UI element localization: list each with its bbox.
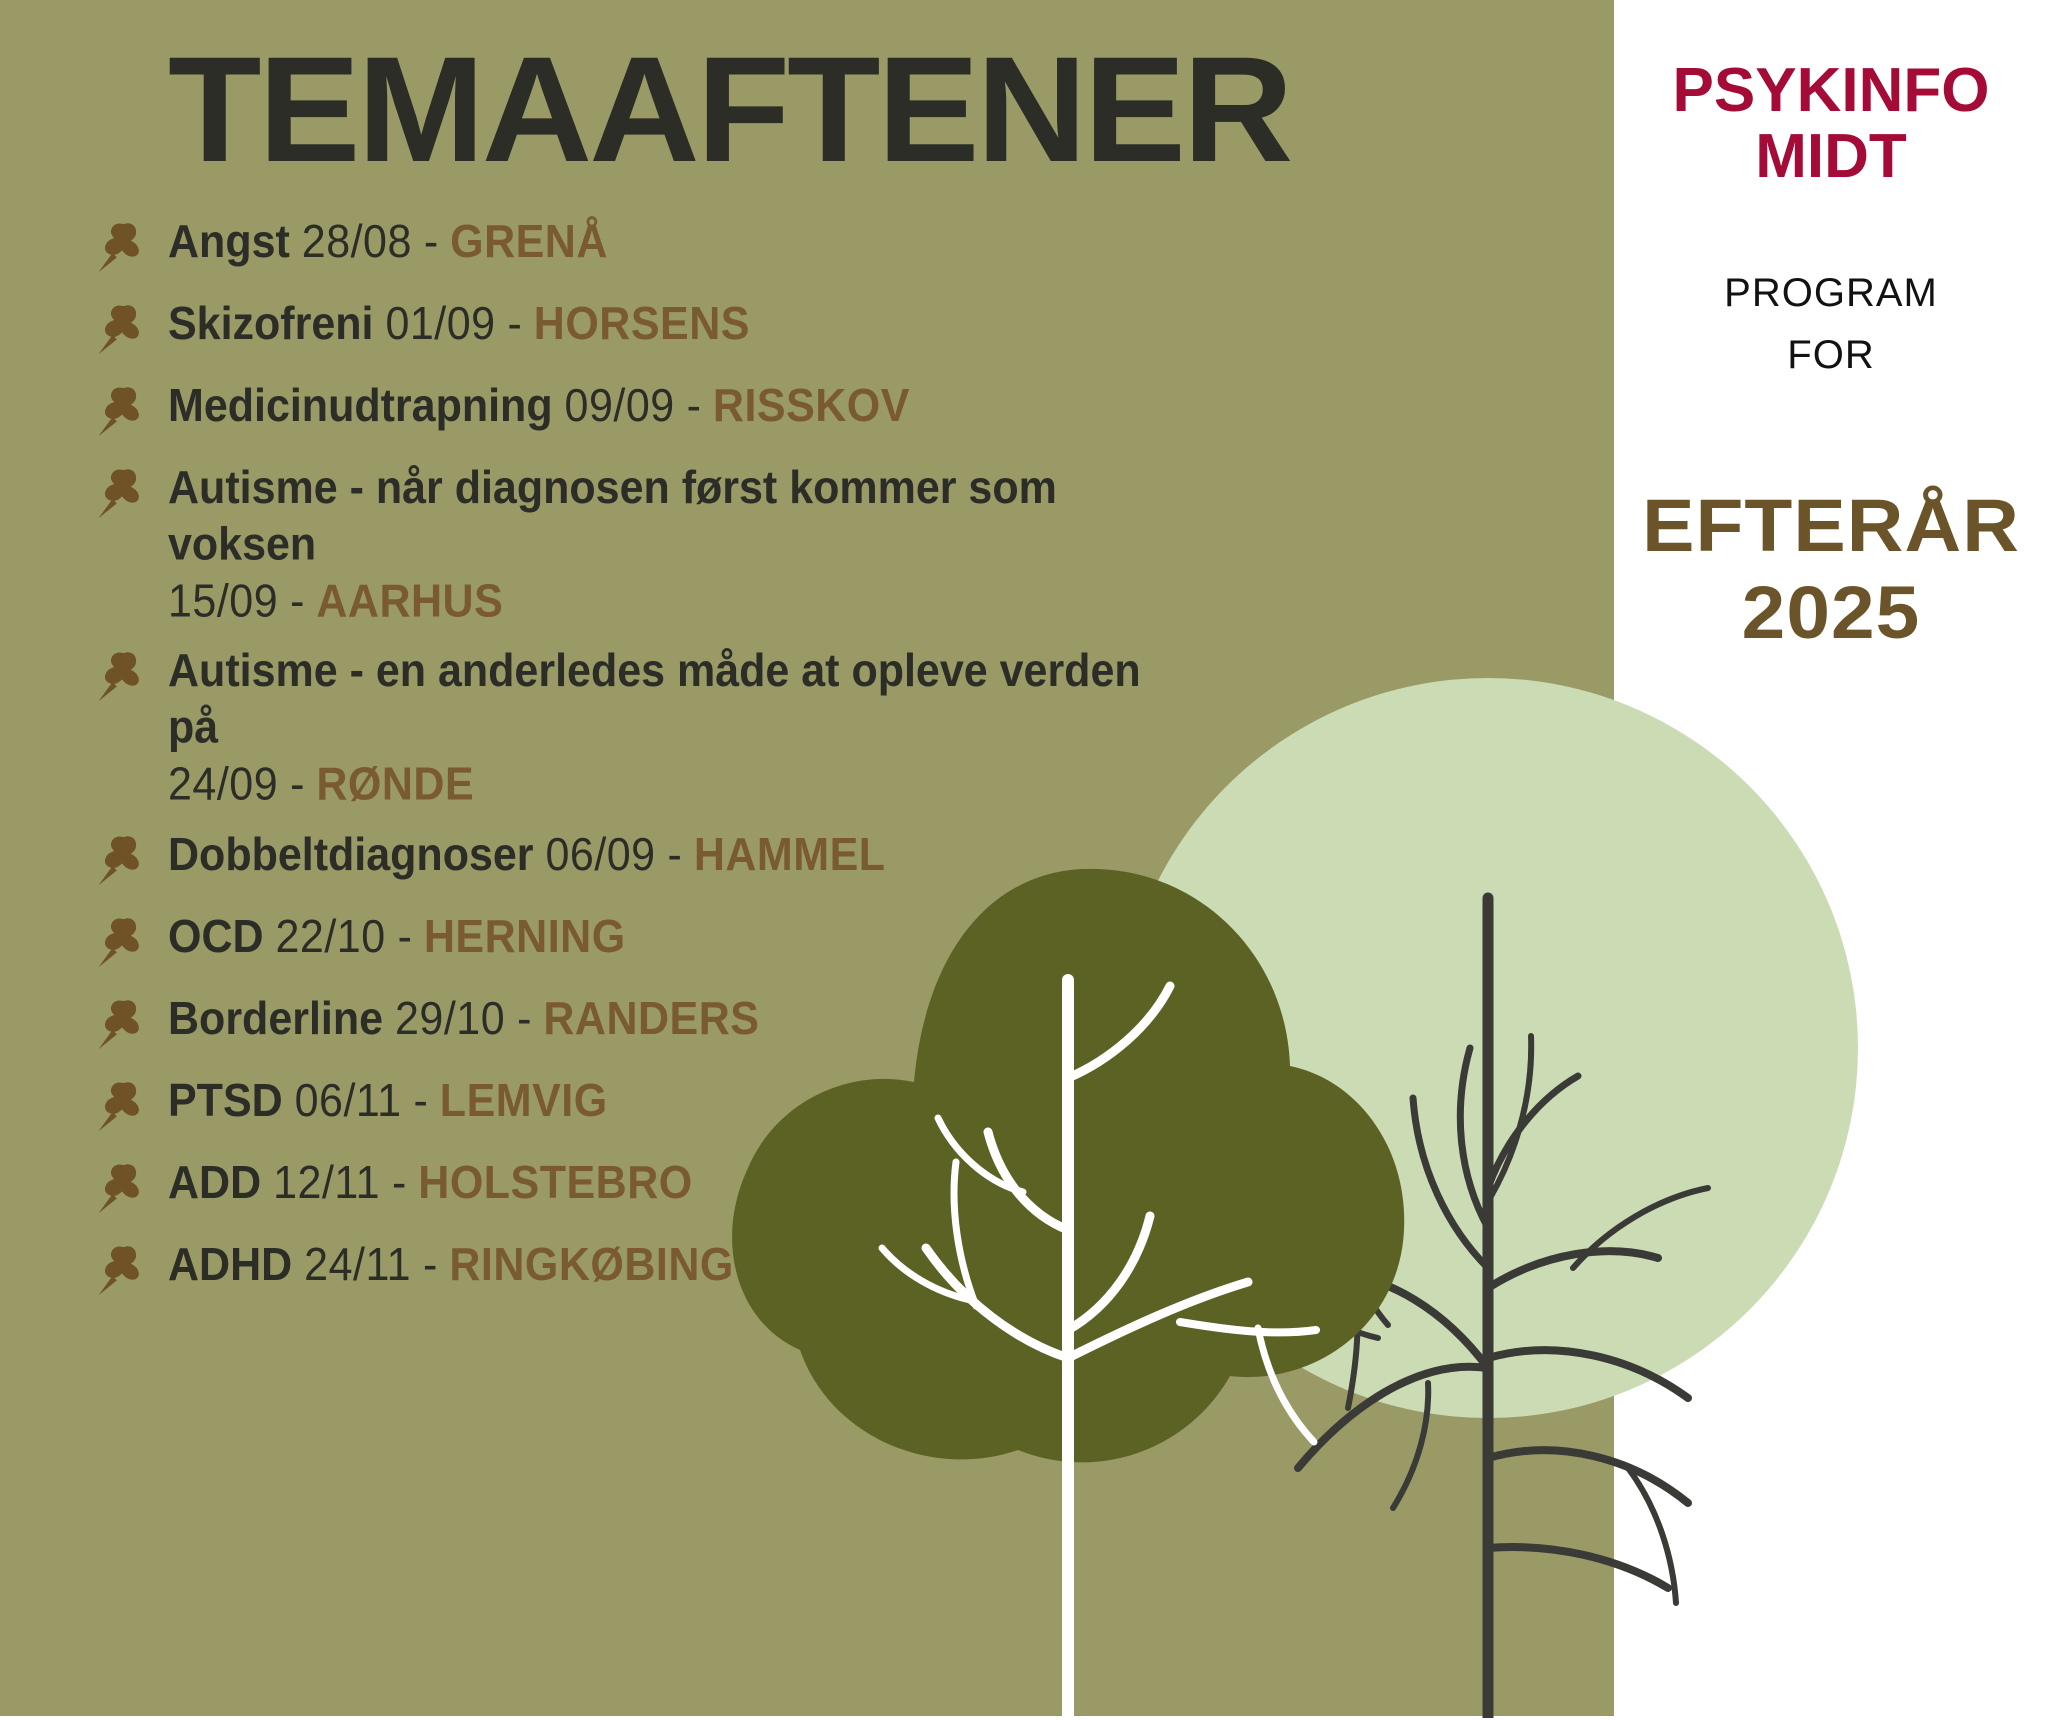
pushpin-icon-glyph [92,464,154,520]
pushpin-icon-glyph [92,995,154,1051]
season-line-2: 2025 [1601,569,2048,656]
event-date: 01/09 [385,298,495,350]
event-row[interactable]: Autisme - en anderledes måde at opleve v… [92,643,1192,800]
pushpin-icon [92,995,154,1051]
event-row[interactable]: ADHD 24/11 - RINGKØBING [92,1237,1192,1297]
event-dash: - [508,298,522,350]
pushpin-icon-glyph [92,1241,154,1297]
event-dash: - [414,1075,428,1127]
event-text: Skizofreni 01/09 - HORSENS [168,296,750,353]
event-city: HAMMEL [694,829,886,881]
season-line-1: EFTERÅR [1601,482,2048,569]
event-city: HOLSTEBRO [418,1157,692,1209]
pushpin-icon-glyph [92,218,154,274]
event-date: 24/09 [168,759,278,811]
pushpin-icon [92,913,154,969]
event-topic: Skizofreni [168,298,374,350]
program-line-2: FOR [1614,324,2048,386]
event-dash: - [290,575,304,627]
pushpin-icon [92,1159,154,1215]
event-city: GRENÅ [450,216,608,268]
event-row[interactable]: Medicinudtrapning 09/09 - RISSKOV [92,378,1192,438]
event-row[interactable]: ADD 12/11 - HOLSTEBRO [92,1155,1192,1215]
event-list: Angst 28/08 - GRENÅ Skizofreni 01/09 - H… [92,214,1192,1319]
event-city: RINGKØBING [449,1239,734,1291]
event-date: 09/09 [565,380,675,432]
event-row[interactable]: OCD 22/10 - HERNING [92,909,1192,969]
pushpin-icon [92,218,154,274]
event-city: RISSKOV [713,380,910,432]
event-row[interactable]: PTSD 06/11 - LEMVIG [92,1073,1192,1133]
event-text: Autisme - når diagnosen først kommer som… [168,460,1192,630]
program-for-label: PROGRAM FOR [1614,262,2048,386]
event-date: 24/11 [304,1239,411,1291]
event-dash: - [423,1239,437,1291]
event-date: 15/09 [168,575,278,627]
event-text: Dobbeltdiagnoser 06/09 - HAMMEL [168,827,886,884]
event-row[interactable]: Autisme - når diagnosen først kommer som… [92,460,1192,617]
event-row[interactable]: Angst 28/08 - GRENÅ [92,214,1192,274]
event-dash: - [668,829,682,881]
event-date: 29/10 [395,993,505,1045]
pushpin-icon-glyph [92,1077,154,1133]
event-topic: Angst [168,216,290,268]
event-topic: Autisme - når diagnosen først kommer som… [168,462,1057,570]
event-text: Medicinudtrapning 09/09 - RISSKOV [168,378,910,435]
event-topic: ADD [168,1157,261,1209]
event-text: ADD 12/11 - HOLSTEBRO [168,1155,693,1212]
pushpin-icon-glyph [92,831,154,887]
sidebar-panel: PSYKINFO MIDT PROGRAM FOR EFTERÅR 2025 [1614,0,2048,1716]
event-text: ADHD 24/11 - RINGKØBING [168,1237,734,1294]
event-text: OCD 22/10 - HERNING [168,909,626,966]
event-text: Autisme - en anderledes måde at opleve v… [168,643,1192,813]
event-date: 12/11 [273,1157,380,1209]
event-date: 28/08 [302,216,412,268]
event-topic: Autisme - en anderledes måde at opleve v… [168,646,1141,754]
event-topic: Medicinudtrapning [168,380,553,432]
pushpin-icon-glyph [92,1159,154,1215]
pushpin-icon-glyph [92,382,154,438]
event-row[interactable]: Skizofreni 01/09 - HORSENS [92,296,1192,356]
event-topic: OCD [168,911,264,963]
event-dash: - [424,216,438,268]
brand-line-2: MIDT [1614,124,2048,190]
event-topic: Dobbeltdiagnoser [168,829,534,881]
brand-logo: PSYKINFO MIDT [1614,58,2048,189]
event-dash: - [398,911,412,963]
event-dash: - [687,380,701,432]
event-row[interactable]: Borderline 29/10 - RANDERS [92,991,1192,1051]
event-topic: PTSD [168,1075,283,1127]
event-city: LEMVIG [440,1075,608,1127]
brand-line-1: PSYKINFO [1614,58,2048,124]
pushpin-icon [92,464,154,520]
event-city: HERNING [424,911,626,963]
event-city: HORSENS [534,298,750,350]
pushpin-icon [92,1077,154,1133]
pushpin-icon [92,300,154,356]
pushpin-icon [92,382,154,438]
pushpin-icon [92,647,154,703]
pushpin-icon-glyph [92,647,154,703]
event-text: Borderline 29/10 - RANDERS [168,991,759,1048]
event-text: Angst 28/08 - GRENÅ [168,214,608,271]
event-date: 06/09 [545,829,655,881]
event-dash: - [290,759,304,811]
event-text: PTSD 06/11 - LEMVIG [168,1073,608,1130]
season-label: EFTERÅR 2025 [1601,482,2048,657]
program-line-1: PROGRAM [1614,262,2048,324]
event-row[interactable]: Dobbeltdiagnoser 06/09 - HAMMEL [92,827,1192,887]
event-topic: Borderline [168,993,383,1045]
event-city: RANDERS [543,993,759,1045]
event-dash: - [517,993,531,1045]
event-date: 06/11 [295,1075,402,1127]
event-city: RØNDE [316,759,474,811]
event-dash: - [392,1157,406,1209]
event-date: 22/10 [276,911,386,963]
event-city: AARHUS [316,575,503,627]
pushpin-icon-glyph [92,300,154,356]
pushpin-icon [92,1241,154,1297]
page-title: TEMAAFTENER [168,34,1290,184]
pushpin-icon [92,831,154,887]
poster-root: TEMAAFTENER Angst 28/08 - GRENÅ Skizofre… [0,0,2048,1716]
event-topic: ADHD [168,1239,292,1291]
pushpin-icon-glyph [92,913,154,969]
